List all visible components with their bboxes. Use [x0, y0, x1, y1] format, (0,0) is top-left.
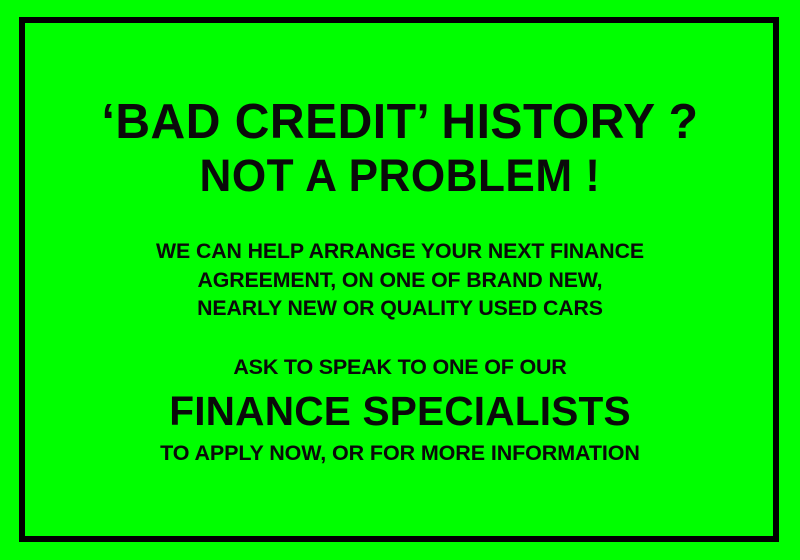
cta-specialists-heading: FINANCE SPECIALISTS — [4, 391, 796, 432]
headline-line-2: NOT A PROBLEM ! — [8, 153, 792, 198]
poster-content: ‘BAD CREDIT’ HISTORY ? NOT A PROBLEM ! W… — [0, 0, 800, 560]
body-line-3: NEARLY NEW OR QUALITY USED CARS — [4, 298, 796, 320]
headline-line-1: ‘BAD CREDIT’ HISTORY ? — [8, 98, 792, 147]
cta-apply-line: TO APPLY NOW, OR FOR MORE INFORMATION — [0, 443, 800, 465]
advertisement-poster: ‘BAD CREDIT’ HISTORY ? NOT A PROBLEM ! W… — [0, 0, 800, 560]
body-paragraph: WE CAN HELP ARRANGE YOUR NEXT FINANCE AG… — [0, 241, 800, 327]
body-line-1: WE CAN HELP ARRANGE YOUR NEXT FINANCE — [4, 241, 796, 263]
body-line-2: AGREEMENT, ON ONE OF BRAND NEW, — [4, 270, 796, 292]
cta-ask-line: ASK TO SPEAK TO ONE OF OUR — [0, 357, 800, 379]
